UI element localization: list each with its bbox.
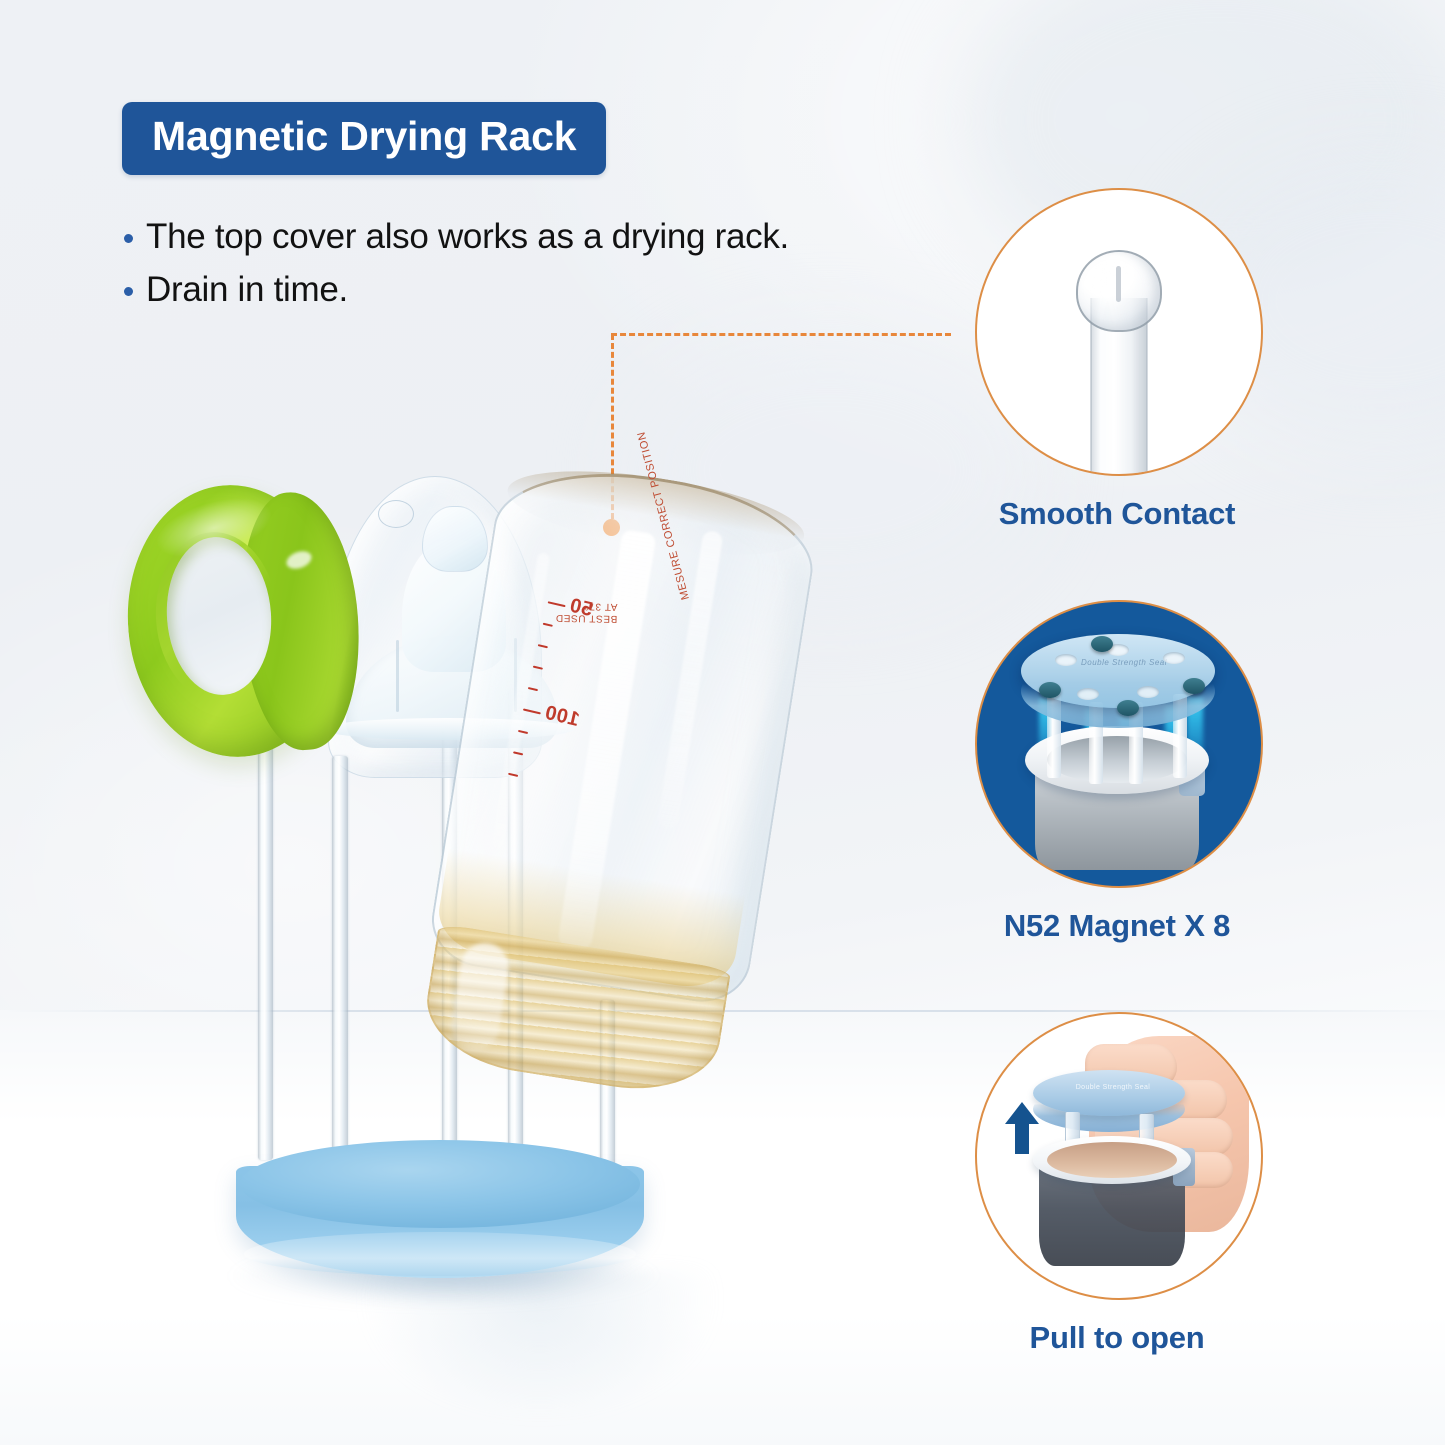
container-rim <box>1033 1136 1191 1184</box>
dome-cover-tab <box>378 500 414 528</box>
infographic-canvas: Magnetic Drying Rack The top cover also … <box>0 0 1445 1445</box>
bullet-text: Drain in time. <box>146 266 348 313</box>
scale-tick <box>523 708 541 714</box>
magnet-cup-opening <box>1047 736 1187 783</box>
pulled-lid-engraving: Double Strength Seal <box>1073 1084 1153 1091</box>
magnet-socket <box>1137 686 1159 698</box>
glass-rod-ball-tip <box>1076 250 1162 332</box>
bullet-dot-icon <box>124 234 133 243</box>
scale-tick <box>528 687 538 691</box>
callout-caption: N52 Magnet X 8 <box>975 908 1259 944</box>
rack-base-lip <box>244 1232 636 1276</box>
magnet-n52-pin <box>1117 700 1139 716</box>
product-photo: 50 100 MESURE CORRECT POSITION BEST USED… <box>110 440 870 1310</box>
pulled-lid <box>1033 1070 1185 1116</box>
rack-rod <box>258 740 273 1160</box>
callout-pull-to-open: Double Strength Seal Pull to open <box>975 1012 1263 1356</box>
arrow-shaft <box>1015 1120 1029 1154</box>
nipple-tip <box>422 506 488 572</box>
rack-base-top <box>240 1140 640 1228</box>
scale-tick <box>543 623 553 627</box>
callout-circle: Double Strength Seal <box>975 600 1263 888</box>
leader-line-horizontal <box>611 333 951 336</box>
callout-n52-magnet: Double Strength Seal N52 Magnet X 8 <box>975 600 1263 944</box>
scale-tick <box>533 666 543 670</box>
magnet-socket <box>1163 652 1185 664</box>
pull-open-render: Double Strength Seal <box>977 1014 1261 1298</box>
magnet-n52-pin <box>1091 636 1113 652</box>
callout-circle: Double Strength Seal <box>975 1012 1263 1300</box>
callout-caption: Pull to open <box>975 1320 1259 1356</box>
magnet-n52-pin <box>1039 682 1061 698</box>
magnet-socket <box>1055 654 1077 666</box>
magnet-n52-pin <box>1183 678 1205 694</box>
magnet-socket <box>1077 688 1099 700</box>
container-opening <box>1047 1142 1177 1178</box>
scale-tick <box>538 644 548 648</box>
list-item: Drain in time. <box>124 266 964 313</box>
magnet-assembly-render: Double Strength Seal <box>977 602 1261 886</box>
bullet-dot-icon <box>124 287 133 296</box>
rack-rod-front <box>332 756 348 1160</box>
scale-tick <box>513 751 523 755</box>
list-item: The top cover also works as a drying rac… <box>124 213 964 260</box>
callout-caption: Smooth Contact <box>975 496 1259 532</box>
scale-tick <box>508 773 518 777</box>
scale-tick <box>518 730 528 734</box>
page-title-banner: Magnetic Drying Rack <box>122 102 606 175</box>
callout-circle <box>975 188 1263 476</box>
feature-bullet-list: The top cover also works as a drying rac… <box>124 213 964 320</box>
bullet-text: The top cover also works as a drying rac… <box>146 213 789 260</box>
page-title: Magnetic Drying Rack <box>152 113 576 159</box>
bottle-label-top: BEST USEDAT 37° <box>555 600 617 624</box>
callout-smooth-contact: Smooth Contact <box>975 188 1263 532</box>
nipple-detail-line <box>396 640 399 712</box>
